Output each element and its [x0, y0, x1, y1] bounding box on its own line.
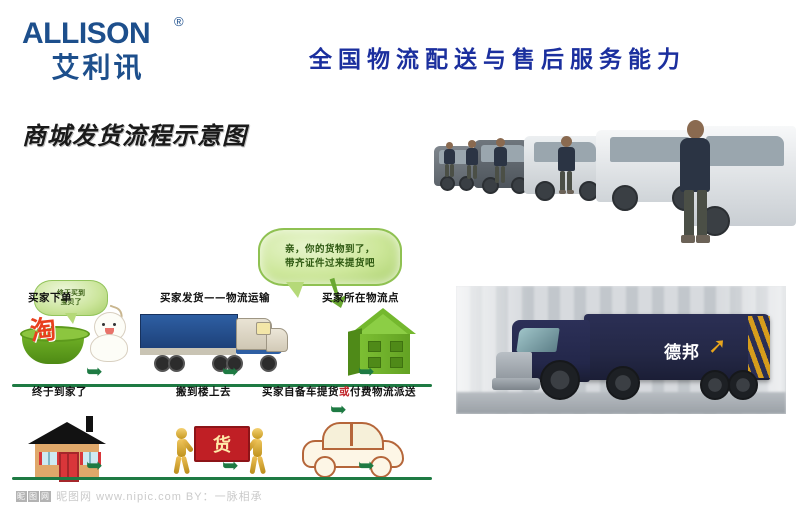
flow-arrow-4-icon: ➥ [86, 456, 103, 476]
truck-wheel-mid [606, 366, 640, 400]
deppon-logistics-truck-photo: 德邦 ➚ [456, 286, 786, 414]
slide-root: ALLISON ® 艾利讯 全国物流配送与售后服务能力 商城发货流程示意图 亲，… [0, 0, 800, 450]
watermark-text: 昵图网 www.nipic.com BY：一脉相承 [56, 491, 263, 503]
truck-wheel-rear-1 [700, 370, 730, 400]
flow-label-row1-1: 买家下单 [28, 290, 72, 305]
fleet-staff-3 [492, 138, 508, 184]
brand-name-cn: 艾利讯 [22, 52, 174, 84]
shipping-flow-diagram: 商城发货流程示意图 亲，你的货物到了， 带齐证件过来提货吧 终于买到 宝贝了 淘 [0, 100, 440, 420]
fleet-staff-4 [464, 140, 479, 180]
flow-arrow-1-icon: ➥ [86, 362, 103, 382]
truck-wheel-front [540, 360, 580, 400]
flow-label-row2-3: 买家自备车提货或付费物流派送 [262, 384, 416, 399]
flow-label-row2-2: 搬到楼上去 [176, 384, 231, 399]
bubble-line-1: 亲，你的货物到了， [285, 244, 375, 256]
row2-label-part-a: 买家自备车提货 [262, 386, 339, 398]
flow-arrow-6-icon: ➥ [330, 400, 347, 420]
page-title: 全国物流配送与售后服务能力 [225, 40, 770, 74]
fleet-staff-5 [442, 142, 456, 178]
watermark: 昵图网 昵图网 www.nipic.com BY：一脉相承 [16, 488, 416, 506]
hazard-stripe-icon [748, 316, 770, 378]
flow-heading: 商城发货流程示意图 [22, 116, 247, 151]
truck-bumper [492, 378, 540, 390]
flow-arrow-7-icon: ➥ [358, 456, 375, 476]
fleet-staff-2 [556, 136, 576, 194]
deppon-logo-arrow-icon: ➚ [708, 336, 726, 356]
registered-trademark-icon: ® [174, 14, 184, 29]
flow-label-row1-3: 买家所在物流点 [322, 290, 399, 305]
fleet-staff-1 [678, 120, 712, 248]
sketch-car-icon [300, 420, 404, 476]
bubble-tail-icon [286, 282, 304, 298]
row2-label-or: 或 [339, 386, 350, 398]
cartoon-buyer-icon [88, 312, 130, 360]
truck-wheel-rear-2 [728, 370, 758, 400]
flow-divider-bottom [12, 477, 432, 480]
goods-box-label: 货 [213, 431, 231, 457]
flow-arrow-5-icon: ➥ [222, 456, 239, 476]
brand-logo: ALLISON ® 艾利讯 [22, 18, 202, 90]
flow-arrow-2-icon: ➥ [222, 362, 239, 382]
flow-arrow-3-icon: ➥ [358, 362, 375, 382]
row2-label-part-b: 付费物流派送 [350, 386, 416, 398]
deppon-logo-text: 德邦 [664, 338, 700, 363]
semi-truck-icon [140, 314, 288, 372]
service-fleet-photo [428, 112, 796, 264]
flow-label-row1-2: 买家发货——物流运输 [160, 290, 270, 305]
truck-windshield [516, 328, 559, 352]
shopping-basket-icon: 淘 [22, 312, 84, 364]
movers-carrying-box-icon: 货 [168, 422, 272, 478]
flow-label-row2-1: 终于到家了 [32, 384, 87, 399]
